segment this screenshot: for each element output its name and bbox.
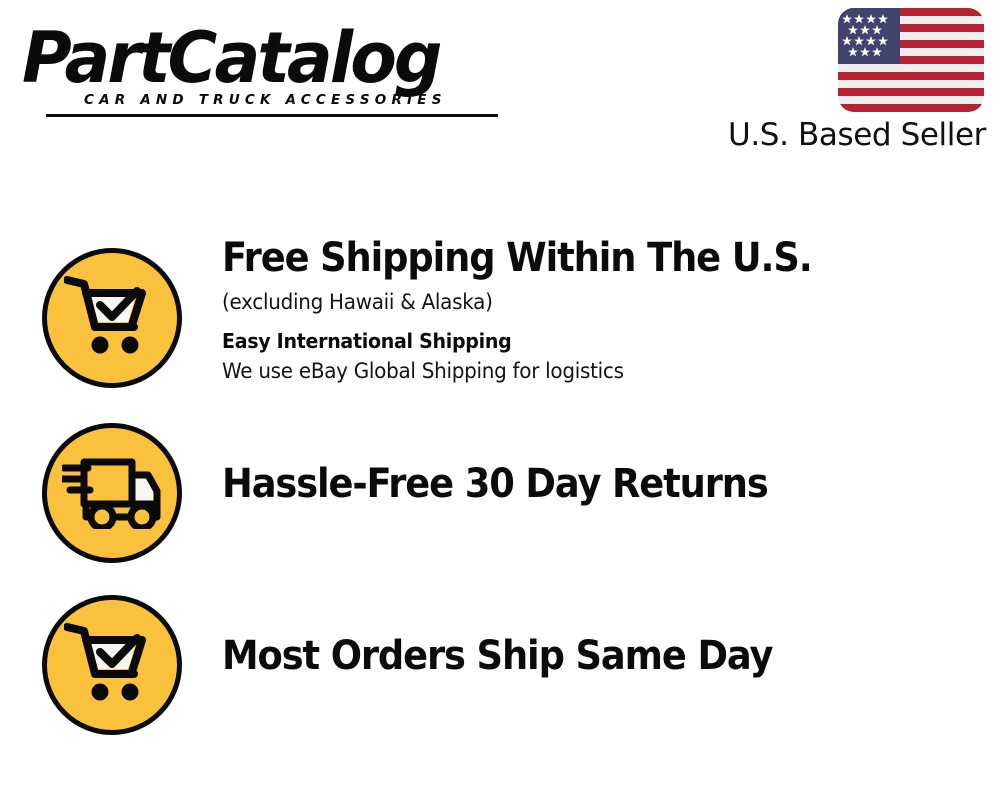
feature-text-block: Hassle-Free 30 Day Returns: [222, 460, 982, 508]
shopping-cart-check-icon: [42, 248, 182, 388]
feature-headline: Free Shipping Within The U.S.: [222, 234, 921, 282]
shopping-cart-check-icon: [42, 595, 182, 735]
feature-headline: Hassle-Free 30 Day Returns: [222, 460, 921, 508]
page-header: PartCatalog CAR AND TRUCK ACCESSORIES: [0, 0, 1000, 180]
brand-tagline: CAR AND TRUCK ACCESSORIES: [84, 92, 447, 108]
brand-logo[interactable]: PartCatalog CAR AND TRUCK ACCESSORIES: [22, 22, 492, 114]
feature-row: Free Shipping Within The U.S. (excluding…: [0, 230, 1000, 410]
brand-wordmark: PartCatalog: [22, 22, 478, 94]
feature-text-block: Free Shipping Within The U.S. (excluding…: [222, 234, 982, 386]
feature-row: Hassle-Free 30 Day Returns: [0, 410, 1000, 582]
feature-subline: We use eBay Global Shipping for logistic…: [222, 356, 944, 386]
us-flag-icon: [838, 8, 984, 112]
brand-underline-rule: [46, 114, 498, 117]
feature-text-block: Most Orders Ship Same Day: [222, 632, 982, 680]
delivery-truck-icon: [42, 423, 182, 563]
us-based-seller-label: U.S. Based Seller: [728, 117, 986, 153]
feature-row: Most Orders Ship Same Day: [0, 582, 1000, 754]
feature-headline: Most Orders Ship Same Day: [222, 632, 921, 680]
feature-subline: (excluding Hawaii & Alaska): [222, 287, 944, 317]
feature-subline-strong: Easy International Shipping: [222, 326, 944, 356]
